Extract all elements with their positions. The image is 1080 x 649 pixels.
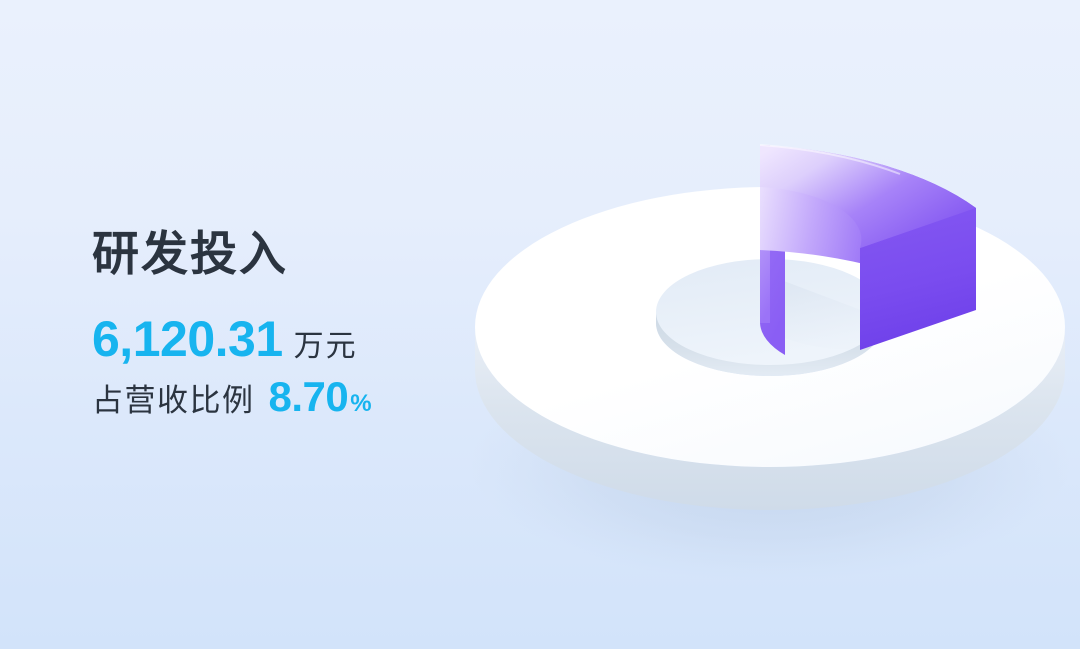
ratio-label: 占营收比例	[92, 385, 255, 416]
stat-unit: 万元	[294, 332, 358, 362]
ratio-percent-sign: %	[350, 392, 371, 416]
stat-value: 6,120.31	[92, 314, 283, 364]
donut-chart-3d	[430, 60, 1080, 580]
ratio-value: 8.70	[269, 376, 349, 418]
stat-card: 研发投入 6,120.31 万元 占营收比例 8.70 %	[0, 0, 1080, 649]
donut-chart-svg	[430, 60, 1080, 580]
